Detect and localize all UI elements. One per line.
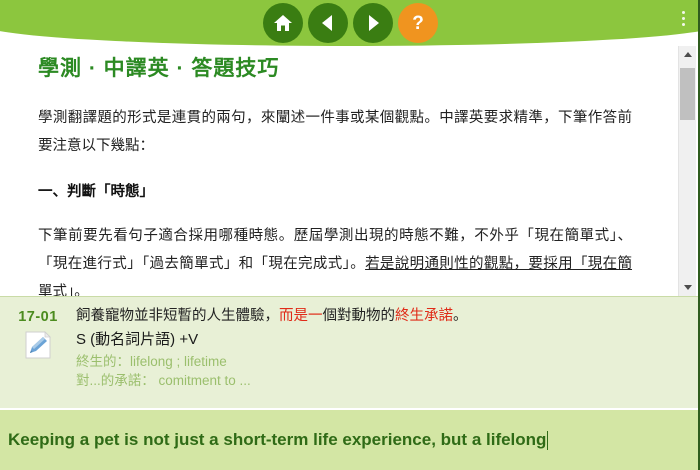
text-caret [547,431,548,450]
exercise-body: 飼養寵物並非短暫的人生體驗，而是一個對動物的終生承諾。 S (動名詞片語) +V… [76,305,698,408]
article-paragraph-2: 下筆前要先看句子適合採用哪種時態。歷屆學測出現的時態不難，不外乎「現在簡單式」、… [38,222,632,296]
pencil-edit-icon[interactable] [23,330,53,360]
next-button[interactable] [353,3,393,43]
exercise-formula: S (動名詞片語) +V [76,328,674,352]
sentence-seg-4-highlight: 終生承諾 [395,308,453,324]
menu-dot [682,11,685,14]
question-mark-icon: ? [407,11,429,35]
top-toolbar: ? [0,0,700,46]
chevron-up-icon [684,52,692,57]
sentence-seg-1: 飼養寵物並非短暫的人生體驗， [76,308,279,324]
scrollbar-thumb[interactable] [680,68,695,120]
home-icon [272,13,294,33]
home-button[interactable] [263,3,303,43]
help-button[interactable]: ? [398,3,438,43]
vertical-scrollbar[interactable] [678,46,696,296]
article-pane: 學測 · 中譯英 · 答題技巧 學測翻譯題的形式是連貫的兩句，來闡述一件事或某個… [0,38,662,296]
exercise-row: 17-01 飼養寵物並非短暫的人生體驗，而是一個對動物的終生承諾。 S (動名詞… [0,296,698,408]
svg-text:?: ? [412,13,424,34]
sentence-seg-3: 個對動物的 [323,308,396,324]
scroll-down-button[interactable] [679,279,696,296]
scroll-up-button[interactable] [679,46,696,63]
next-icon [364,13,382,33]
page-title: 學測 · 中譯英 · 答題技巧 [38,52,632,82]
sentence-seg-5: 。 [453,308,468,324]
article-heading-1: 一、判斷「時態」 [38,178,632,206]
sentence-seg-2-highlight: 而是一 [279,308,323,324]
overflow-menu-icon[interactable] [676,6,690,30]
previous-button[interactable] [308,3,348,43]
menu-dot [682,17,685,20]
previous-icon [319,13,337,33]
exercise-hint-1: 終生的：lifelong ; lifetime [76,352,674,371]
exercise-sentence: 飼養寵物並非短暫的人生體驗，而是一個對動物的終生承諾。 [76,305,674,327]
app-window: ? 學測 · 中譯英 · 答題技巧 學測翻譯題的形式是連貫的兩句，來闡述一件事或… [0,0,700,470]
answer-input[interactable]: Keeping a pet is not just a short-term l… [0,408,698,470]
exercise-number: 17-01 [0,309,76,325]
exercise-hint-2: 對...的承諾： comitment to ... [76,371,674,390]
article-paragraph-1: 學測翻譯題的形式是連貫的兩句，來闡述一件事或某個觀點。中譯英要求精準，下筆作答前… [38,104,632,160]
chevron-down-icon [684,285,692,290]
answer-input-value: Keeping a pet is not just a short-term l… [8,430,546,450]
menu-dot [682,23,685,26]
navigation-buttons: ? [0,0,700,46]
exercise-meta: 17-01 [0,305,76,408]
article-content: 學測 · 中譯英 · 答題技巧 學測翻譯題的形式是連貫的兩句，來闡述一件事或某個… [0,38,662,296]
